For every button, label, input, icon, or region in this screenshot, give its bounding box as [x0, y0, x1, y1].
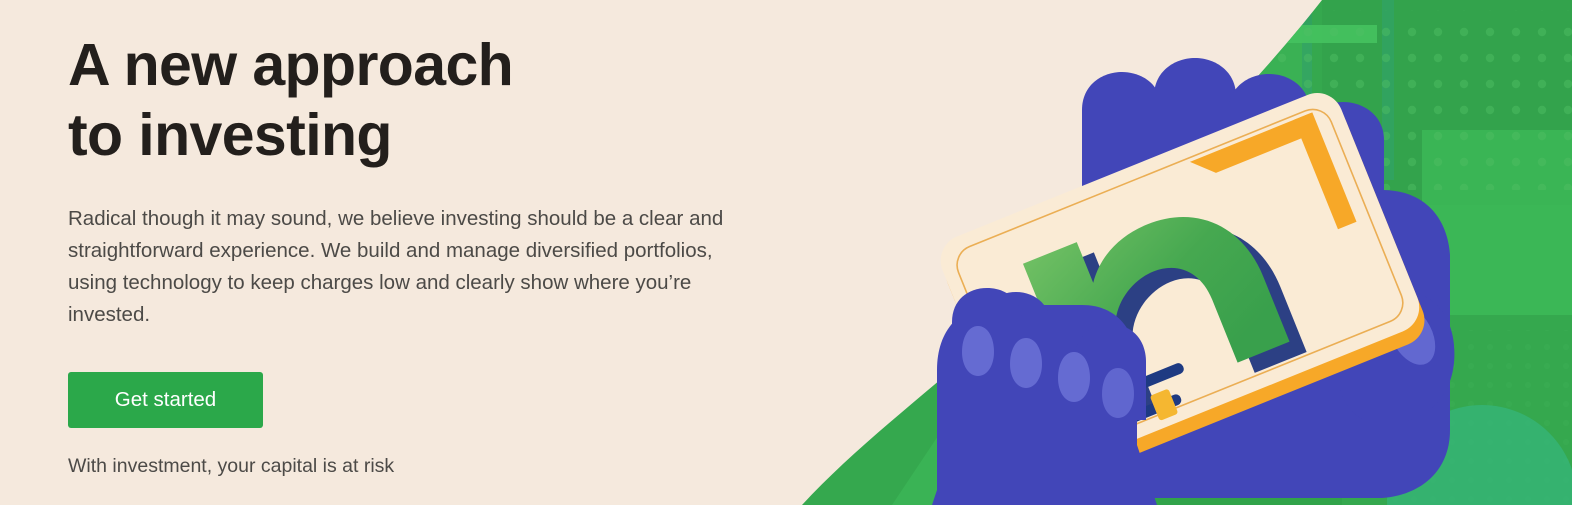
hero-description: Radical though it may sound, we believe … [68, 203, 733, 331]
get-started-button[interactable]: Get started [68, 372, 263, 428]
risk-disclaimer: With investment, your capital is at risk [68, 452, 394, 480]
landing-hero-page: A new approach to investing Radical thou… [0, 0, 1572, 505]
hands-holding-card-illustration [782, 0, 1572, 505]
hero-content: A new approach to investing Radical thou… [68, 0, 768, 505]
page-title: A new approach to investing [68, 30, 513, 170]
